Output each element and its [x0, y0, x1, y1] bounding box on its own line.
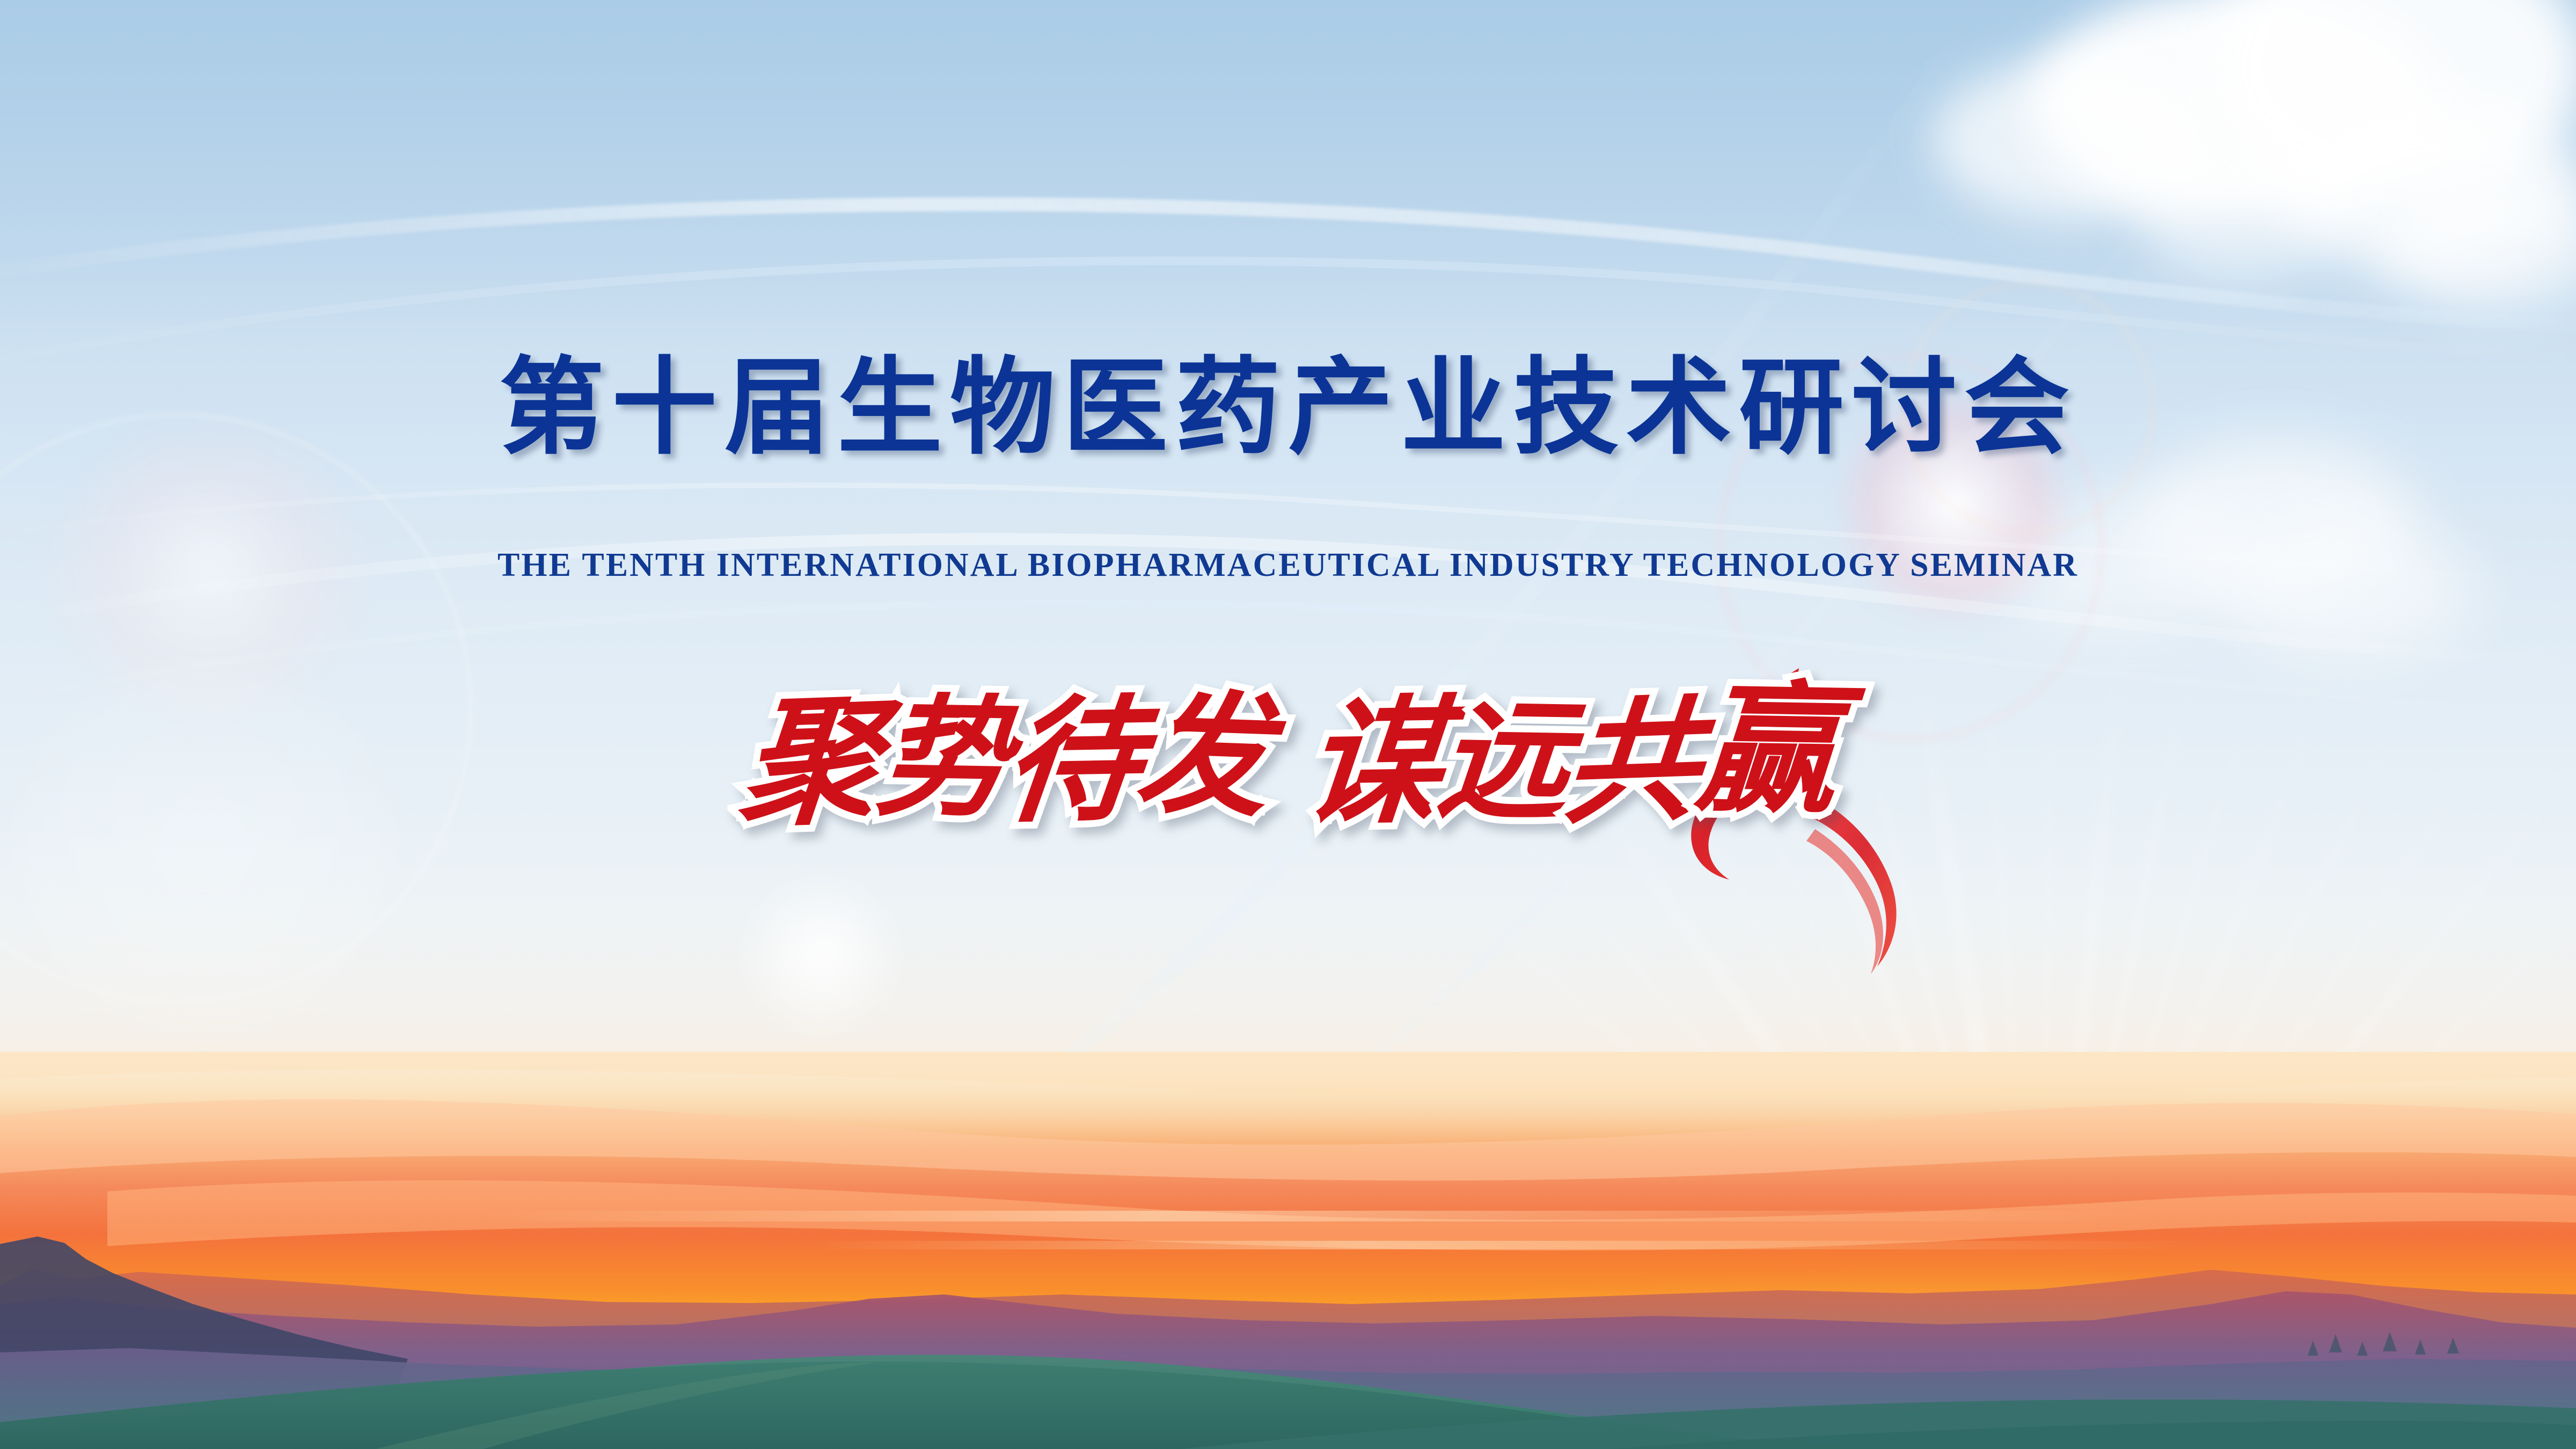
conference-banner: 第十届生物医药产业技术研讨会 THE TENTH INTERNATIONAL B…	[0, 0, 2576, 1449]
page-title: 第十届生物医药产业技术研讨会	[0, 355, 2576, 460]
sunset-landscape	[0, 1052, 2576, 1449]
page-subtitle: THE TENTH INTERNATIONAL BIOPHARMACEUTICA…	[0, 546, 2576, 584]
light-blob	[733, 875, 910, 1036]
lens-flare-disc-left-icon	[0, 644, 408, 1052]
